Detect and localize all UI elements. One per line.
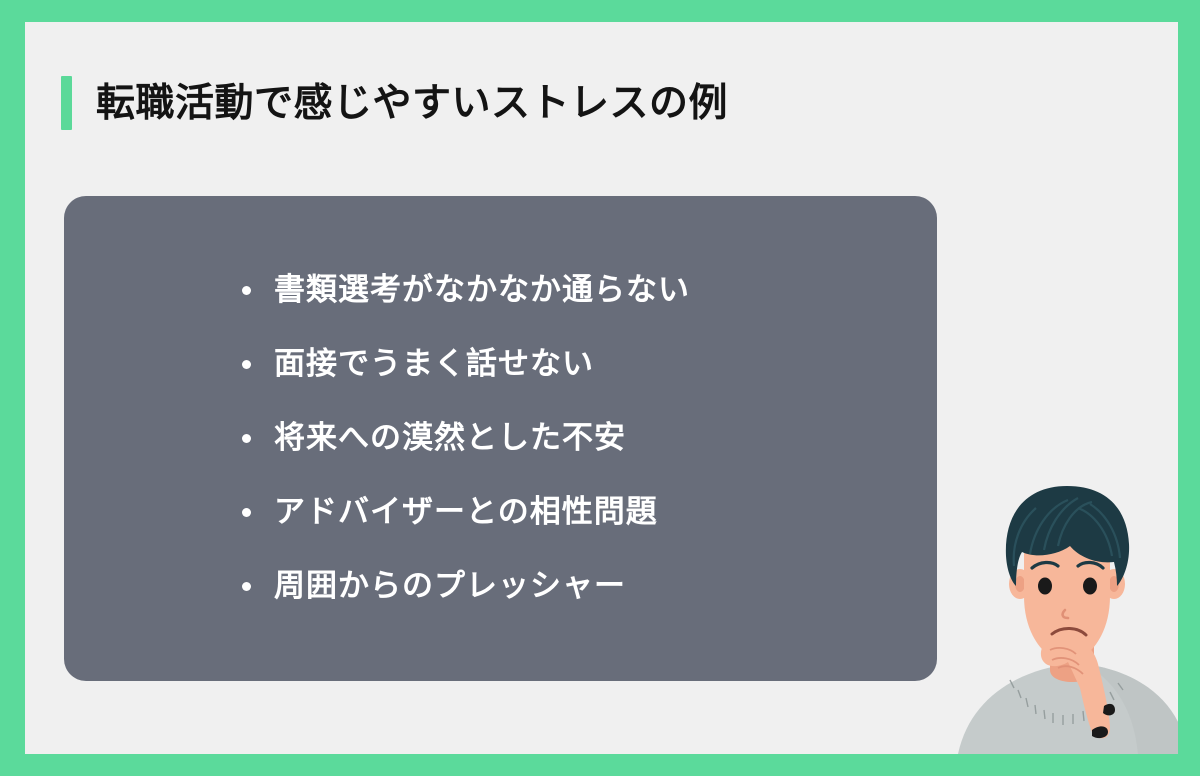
slide-content-area: 転職活動で感じやすいストレスの例 書類選考がなかなか通らない 面接でうまく話せな…: [25, 22, 1178, 754]
slide-frame: 転職活動で感じやすいストレスの例 書類選考がなかなか通らない 面接でうまく話せな…: [0, 0, 1200, 776]
bullet-dot-icon: [242, 508, 251, 517]
list-item: 周囲からのプレッシャー: [242, 550, 937, 624]
bullet-dot-icon: [242, 434, 251, 443]
finger-nail: [1103, 704, 1115, 715]
bullet-dot-icon: [242, 582, 251, 591]
stress-examples-card: 書類選考がなかなか通らない 面接でうまく話せない 将来への漠然とした不安 アドバ…: [64, 196, 937, 681]
thinking-man-illustration: [952, 474, 1178, 754]
bullet-label: 書類選考がなかなか通らない: [274, 273, 690, 307]
left-eye: [1038, 578, 1052, 595]
bullet-dot-icon: [242, 286, 251, 295]
list-item: 面接でうまく話せない: [242, 328, 937, 402]
bullet-dot-icon: [242, 360, 251, 369]
page-title-row: 転職活動で感じやすいストレスの例: [61, 75, 728, 131]
page-title: 転職活動で感じやすいストレスの例: [96, 84, 728, 123]
bullet-label: 面接でうまく話せない: [274, 347, 594, 381]
list-item: 将来への漠然とした不安: [242, 402, 937, 476]
list-item: 書類選考がなかなか通らない: [242, 254, 937, 328]
bullet-label: 将来への漠然とした不安: [274, 421, 626, 455]
list-item: アドバイザーとの相性問題: [242, 476, 937, 550]
title-accent-bar: [61, 76, 72, 130]
bullet-label: アドバイザーとの相性問題: [274, 495, 658, 529]
right-eye: [1083, 578, 1097, 595]
bullet-label: 周囲からのプレッシャー: [274, 569, 626, 603]
